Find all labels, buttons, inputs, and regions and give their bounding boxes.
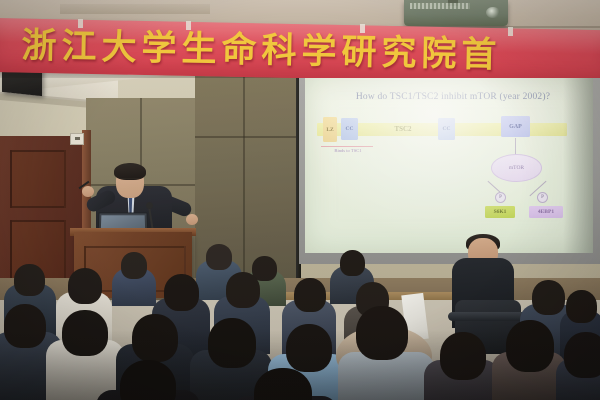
screen-edge-shadow <box>563 76 593 253</box>
banner-region: 浙江大学生命科学研究院首 <box>0 18 600 78</box>
audience-member <box>294 278 326 312</box>
speaker-glasses-icon <box>119 178 141 184</box>
speaker-right-hand <box>186 214 198 225</box>
audience-member <box>340 250 365 276</box>
door-panel <box>10 150 66 208</box>
audience-member <box>206 244 232 270</box>
projector-vent <box>410 3 470 9</box>
audience-member <box>68 268 102 304</box>
banner-tie <box>508 27 513 36</box>
banner-tie <box>78 19 83 28</box>
foreground-shadow <box>0 330 600 400</box>
projection-screen: How do TSC1/TSC2 inhibit mTOR (year 2002… <box>305 76 593 253</box>
audience-member <box>532 280 565 315</box>
audience-member <box>566 290 597 323</box>
audience-member <box>14 264 45 296</box>
audience-member <box>226 272 260 308</box>
screen-glare <box>305 76 593 253</box>
ceiling-vent <box>60 4 210 14</box>
audience-member <box>164 274 199 311</box>
microphone-icon <box>146 202 153 209</box>
projector-lens-icon <box>486 7 500 18</box>
speaker-left-hand <box>82 186 94 197</box>
wall-outlet-plate[interactable] <box>70 133 84 145</box>
lecture-hall-photo: How do TSC1/TSC2 inhibit mTOR (year 2002… <box>0 0 600 400</box>
panel-seam <box>195 136 300 138</box>
banner-tie <box>186 21 191 30</box>
banner-tie <box>360 24 365 33</box>
audience-member <box>121 252 147 279</box>
